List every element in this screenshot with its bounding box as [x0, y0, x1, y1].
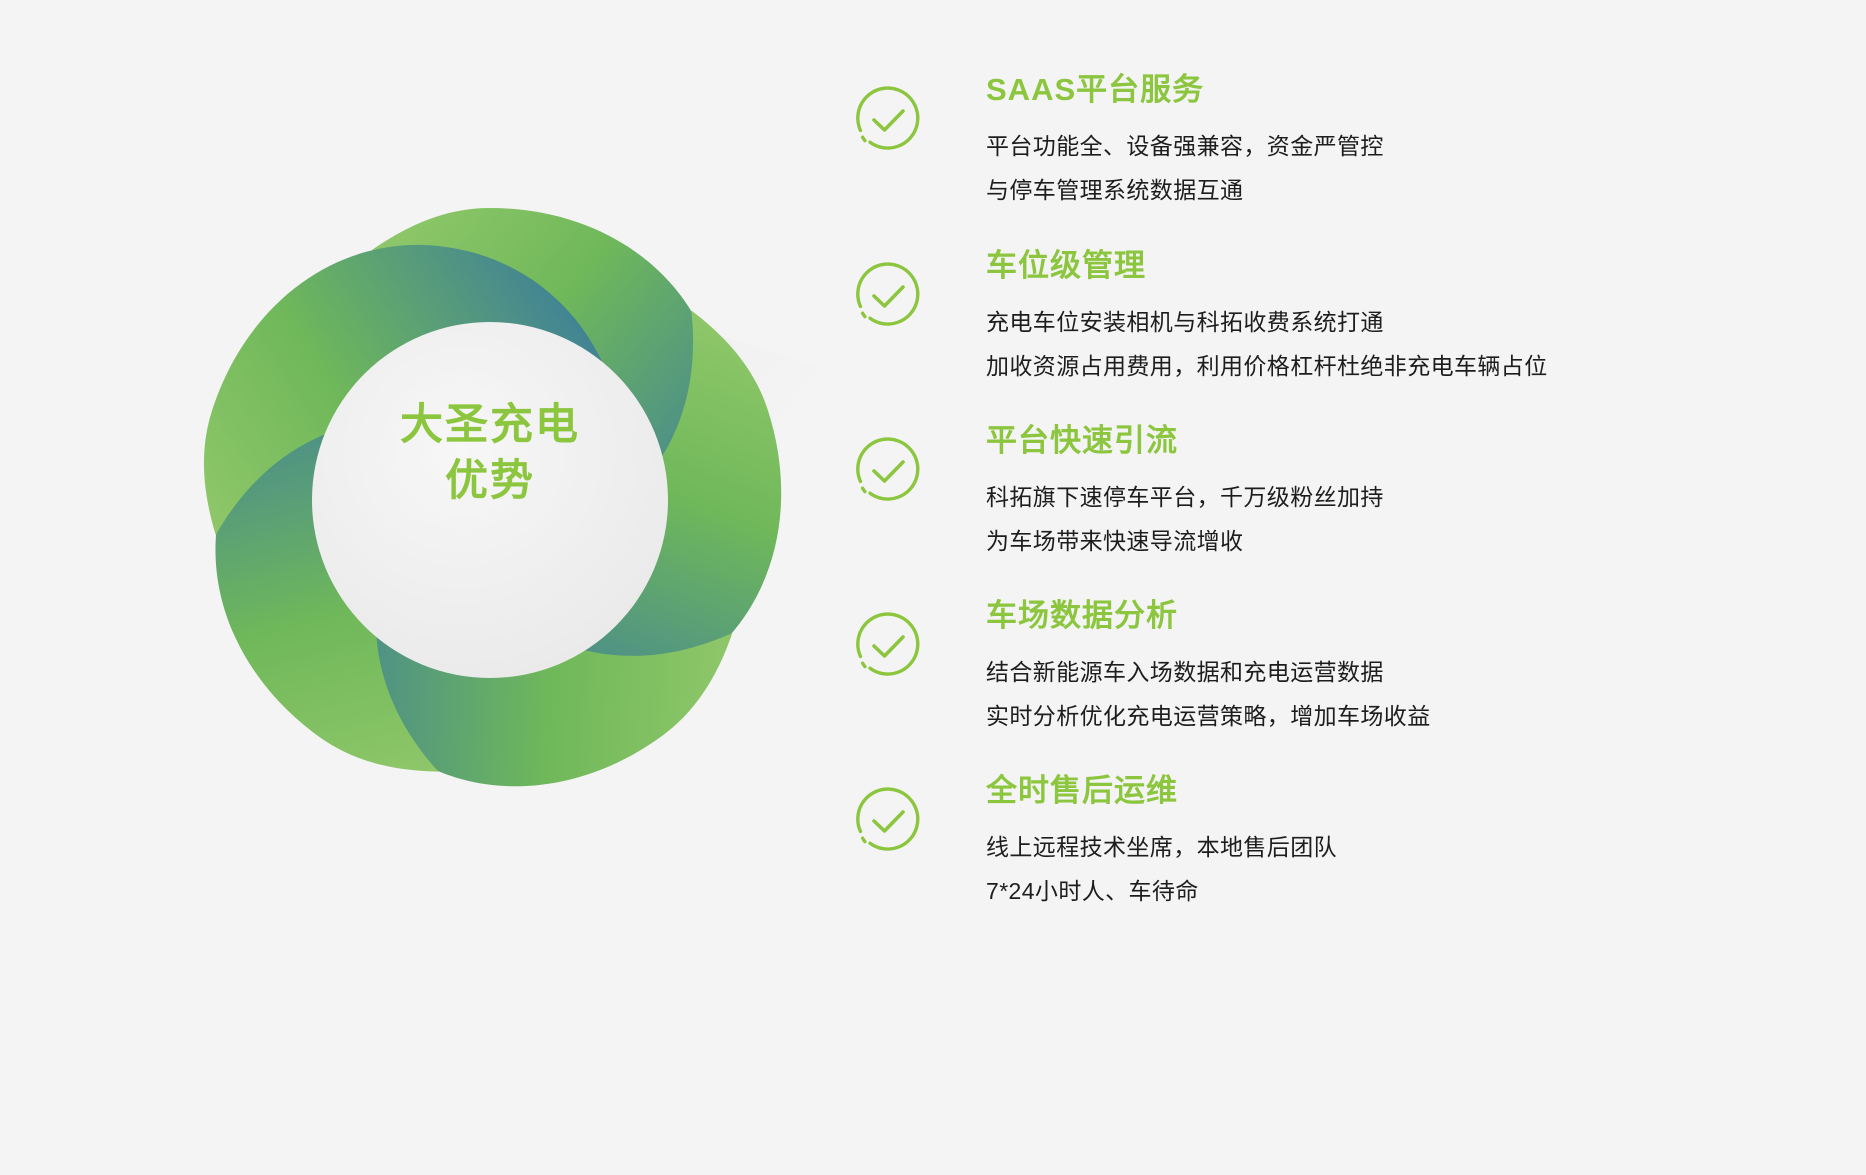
pinwheel-logo-graphic — [120, 130, 860, 870]
feature-body: 车位级管理 充电车位安装相机与科拓收费系统打通 加收资源占用费用，利用价格杠杆杜… — [986, 250, 1548, 388]
feature-item: SAAS平台服务 平台功能全、设备强兼容，资金严管控 与停车管理系统数据互通 — [840, 74, 1866, 212]
check-circle-icon — [846, 429, 930, 513]
feature-line: 为车场带来快速导流增收 — [986, 519, 1384, 563]
feature-line: 平台功能全、设备强兼容，资金严管控 — [986, 124, 1384, 168]
feature-body: 车场数据分析 结合新能源车入场数据和充电运营数据 实时分析优化充电运营策略，增加… — [986, 600, 1431, 738]
infographic-canvas: 大圣充电 优势 SAAS平台服务 平台功能全、设备强兼容，资金严管控 与停车管理… — [0, 0, 1866, 1175]
check-circle-icon — [846, 78, 930, 162]
logo-center-disc — [312, 322, 668, 678]
feature-title: SAAS平台服务 — [986, 74, 1384, 107]
feature-title: 全时售后运维 — [986, 775, 1337, 808]
feature-body: 平台快速引流 科拓旗下速停车平台，千万级粉丝加持 为车场带来快速导流增收 — [986, 425, 1384, 563]
feature-line: 结合新能源车入场数据和充电运营数据 — [986, 650, 1431, 694]
feature-title: 车场数据分析 — [986, 600, 1431, 633]
feature-item: 全时售后运维 线上远程技术坐席，本地售后团队 7*24小时人、车待命 — [840, 775, 1866, 913]
brand-logo-block: 大圣充电 优势 — [120, 130, 860, 870]
feature-title: 平台快速引流 — [986, 425, 1384, 458]
feature-item: 平台快速引流 科拓旗下速停车平台，千万级粉丝加持 为车场带来快速导流增收 — [840, 425, 1866, 563]
check-circle-icon — [846, 604, 930, 688]
feature-body: 全时售后运维 线上远程技术坐席，本地售后团队 7*24小时人、车待命 — [986, 775, 1337, 913]
feature-title: 车位级管理 — [986, 250, 1548, 283]
feature-item: 车位级管理 充电车位安装相机与科拓收费系统打通 加收资源占用费用，利用价格杠杆杜… — [840, 250, 1866, 388]
feature-item: 车场数据分析 结合新能源车入场数据和充电运营数据 实时分析优化充电运营策略，增加… — [840, 600, 1866, 738]
feature-line: 实时分析优化充电运营策略，增加车场收益 — [986, 694, 1431, 738]
feature-line: 7*24小时人、车待命 — [986, 869, 1337, 913]
check-circle-icon — [846, 779, 930, 863]
feature-line: 与停车管理系统数据互通 — [986, 168, 1384, 212]
feature-line: 充电车位安装相机与科拓收费系统打通 — [986, 300, 1548, 344]
feature-line: 科拓旗下速停车平台，千万级粉丝加持 — [986, 475, 1384, 519]
check-circle-icon — [846, 254, 930, 338]
feature-line: 线上远程技术坐席，本地售后团队 — [986, 825, 1337, 869]
feature-list: SAAS平台服务 平台功能全、设备强兼容，资金严管控 与停车管理系统数据互通 车… — [840, 0, 1866, 1175]
feature-line: 加收资源占用费用，利用价格杠杆杜绝非充电车辆占位 — [986, 344, 1548, 388]
feature-body: SAAS平台服务 平台功能全、设备强兼容，资金严管控 与停车管理系统数据互通 — [986, 74, 1384, 212]
